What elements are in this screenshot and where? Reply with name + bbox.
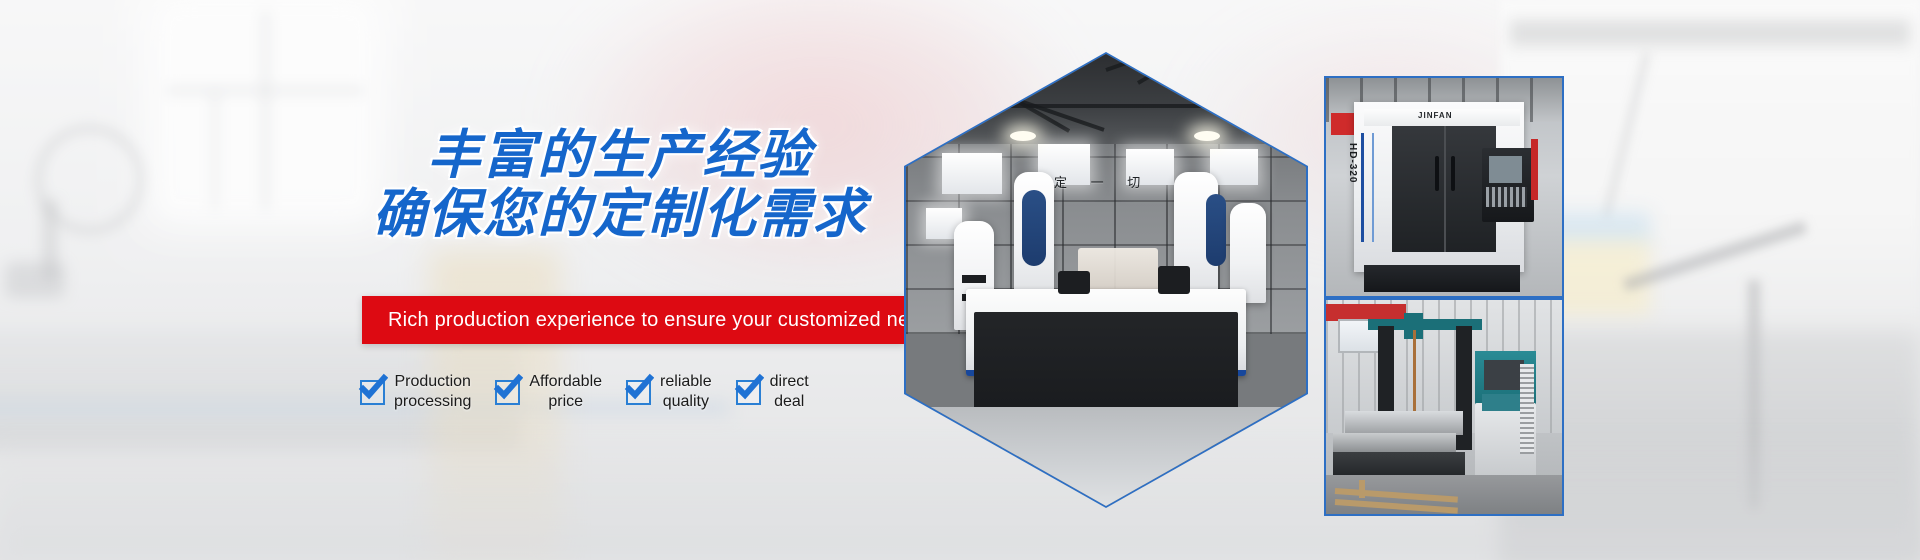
- subtitle-banner: Rich production experience to ensure you…: [362, 296, 905, 344]
- feature-label: reliable quality: [660, 372, 712, 412]
- machine-model-label: HD-320: [1347, 143, 1358, 183]
- feature-label: direct deal: [770, 372, 809, 412]
- promo-banner: 丰富的生产经验 确保您的定制化需求 Rich production experi…: [0, 0, 1920, 560]
- feature-label: Production processing: [394, 372, 471, 412]
- feature-item-direct-deal[interactable]: direct deal: [736, 372, 809, 412]
- horizontal-machining-center-photo[interactable]: HD-320 JINFAN: [1324, 76, 1564, 298]
- wire-cut-edm-machine-photo[interactable]: [1324, 298, 1564, 516]
- checkbox-checked-icon[interactable]: [360, 380, 385, 405]
- machine-sign-text: 定 一 切: [1054, 172, 1150, 191]
- feature-list: Production processing Affordable price r…: [360, 372, 833, 412]
- cnc-double-head-milling-machine-photo: 定 一 切: [906, 54, 1306, 506]
- subtitle-text: Rich production experience to ensure you…: [388, 296, 942, 344]
- hexagon-photo-frame[interactable]: 定 一 切: [904, 52, 1308, 508]
- feature-item-reliable-quality[interactable]: reliable quality: [626, 372, 712, 412]
- machine-brand-label: JINFAN: [1418, 111, 1452, 120]
- checkbox-checked-icon[interactable]: [736, 380, 761, 405]
- checkbox-checked-icon[interactable]: [626, 380, 651, 405]
- headline-line-1: 丰富的生产经验: [340, 126, 900, 185]
- checkbox-checked-icon[interactable]: [495, 380, 520, 405]
- headline-line-2: 确保您的定制化需求: [340, 185, 900, 244]
- headline: 丰富的生产经验 确保您的定制化需求: [340, 126, 900, 245]
- feature-item-affordable-price[interactable]: Affordable price: [495, 372, 602, 412]
- feature-label: Affordable price: [529, 372, 602, 412]
- feature-item-production-processing[interactable]: Production processing: [360, 372, 471, 412]
